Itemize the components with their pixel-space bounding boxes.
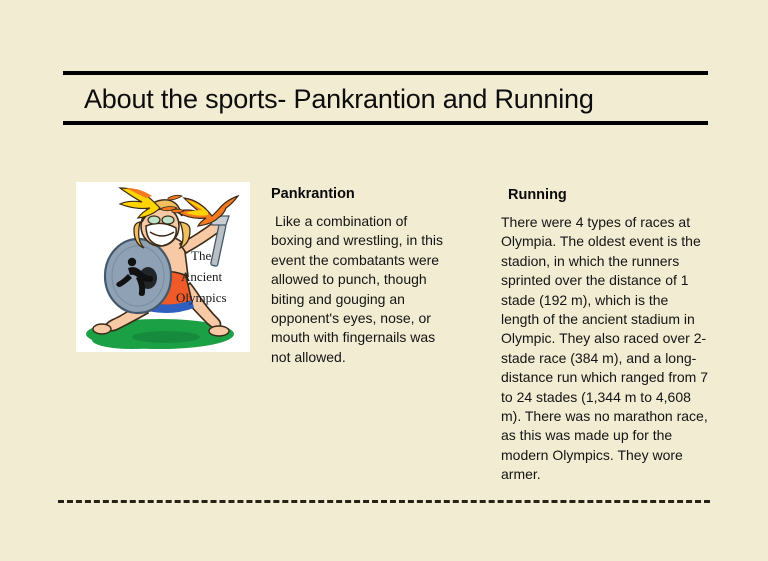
column-heading-pankrantion: Pankrantion: [271, 186, 447, 203]
content-column-pankrantion: Pankrantion Like a combination of boxing…: [271, 186, 447, 367]
page-title: About the sports- Pankrantion and Runnin…: [84, 79, 704, 119]
content-column-running: Running There were 4 types of races at O…: [501, 187, 709, 485]
column-body-running: There were 4 types of races at Olympia. …: [501, 213, 709, 485]
title-rule-bottom: [63, 121, 708, 125]
title-rule-top: [63, 71, 708, 75]
dashed-divider: [58, 500, 710, 503]
slide-canvas: About the sports- Pankrantion and Runnin…: [0, 0, 768, 561]
shield-icon: [105, 239, 171, 313]
picture-caption-line-2: Ancient: [181, 269, 223, 284]
picture-caption-line-3: Olympics: [176, 290, 227, 305]
ancient-olympics-image: The Ancient Olympics: [76, 182, 250, 352]
column-heading-running: Running: [501, 187, 709, 204]
picture-caption-line-1: The: [191, 248, 211, 263]
ancient-olympics-illustration: The Ancient Olympics: [76, 182, 250, 352]
column-body-pankrantion: Like a combination of boxing and wrestli…: [271, 212, 447, 367]
